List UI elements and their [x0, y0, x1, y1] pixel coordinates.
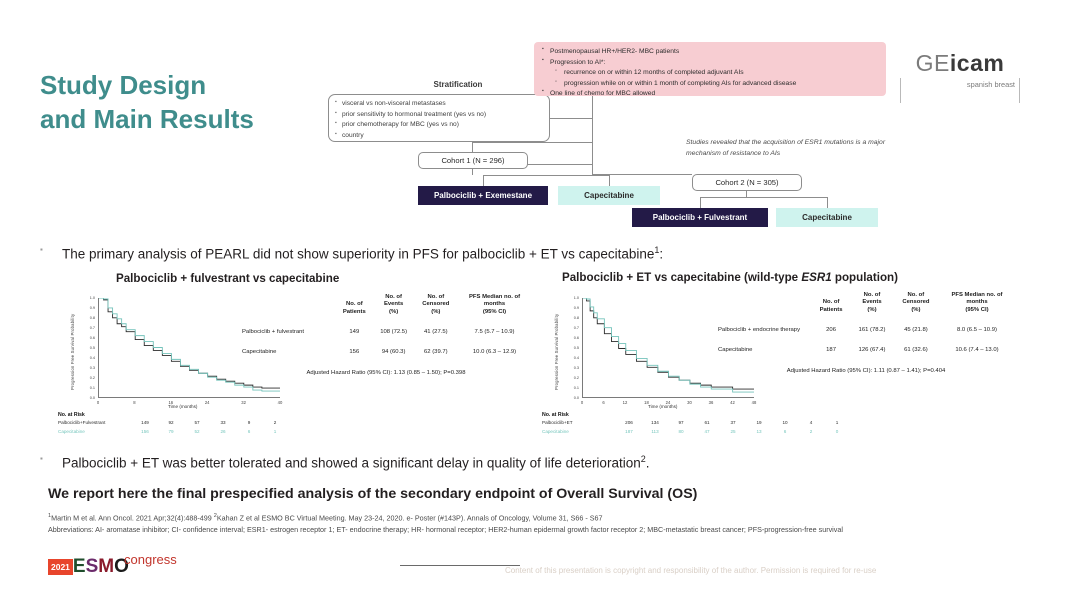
- at-risk-label: Palbociclib+Fulvestrant: [58, 420, 132, 425]
- cohort-2-node: Cohort 2 (N = 305): [692, 174, 802, 191]
- x-tick: 6: [602, 400, 604, 405]
- page-title: Study Design and Main Results: [40, 68, 320, 137]
- list-item: visceral vs non-visceral metastases: [335, 99, 543, 110]
- table-row: Palbociclib + fulvestrant149108 (72.5)41…: [240, 323, 532, 343]
- at-risk-value: 25: [720, 429, 746, 434]
- x-tick: 32: [241, 400, 246, 405]
- table-cell: 7.5 (5.7 – 10.9): [457, 323, 532, 343]
- geicam-icam: icam: [950, 50, 1004, 76]
- connector: [700, 197, 827, 198]
- y-tick: 0.3: [83, 366, 95, 370]
- table-cell: 126 (67.4): [850, 341, 894, 361]
- y-tick: 0.0: [567, 396, 579, 400]
- bullet-primary-text: The primary analysis of PEARL did not sh…: [62, 247, 654, 262]
- table-cell: Capecitabine: [716, 341, 812, 361]
- at-risk-label: Capecitabine: [58, 429, 132, 434]
- column-header: No. ofCensored(%): [894, 292, 938, 321]
- column-header: No. ofCensored(%): [415, 294, 457, 323]
- table-cell: 156: [336, 343, 373, 363]
- panel-title-right-gene: ESR1: [801, 271, 831, 284]
- at-risk-value: 0: [824, 429, 850, 434]
- x-axis-label-right: Time (months): [648, 404, 677, 409]
- arm-palbociclib-fulvestrant: Palbociclib + Fulvestrant: [632, 208, 768, 227]
- list-item: recurrence on or within 12 months of com…: [542, 68, 878, 79]
- connector: [483, 175, 609, 176]
- bullet-tolerability: Palbociclib + ET was better tolerated an…: [62, 454, 782, 471]
- esmo-letter-s: S: [86, 556, 99, 577]
- abbreviations-line: Abbreviations: AI- aromatase inhibitor; …: [48, 524, 1028, 536]
- references-block: 1Martin M et al. Ann Oncol. 2021 Apr;32(…: [48, 512, 1028, 536]
- x-tick: 8: [133, 400, 135, 405]
- table-cell: 10.0 (6.3 – 12.9): [457, 343, 532, 363]
- results-table-left: No. ofPatientsNo. ofEvents(%)No. ofCenso…: [240, 294, 532, 376]
- y-tick: 0.6: [83, 336, 95, 340]
- table-cell: 94 (60.3): [373, 343, 415, 363]
- panel-title-right-b: population): [832, 271, 898, 284]
- y-tick: 0.4: [567, 356, 579, 360]
- at-risk-value: 26: [210, 429, 236, 434]
- at-risk-value: 61: [694, 420, 720, 425]
- column-header: No. ofPatients: [336, 294, 373, 323]
- at-risk-value: 97: [668, 420, 694, 425]
- table-row: Palbociclib + endocrine therapy206161 (7…: [716, 321, 1016, 341]
- y-tick: 0.8: [83, 316, 95, 320]
- arm-capecitabine-cohort2: Capecitabine: [776, 208, 878, 227]
- connector: [592, 96, 593, 174]
- list-item: prior chemotherapy for MBC (yes vs no): [335, 120, 543, 131]
- table-body: Palbociclib + endocrine therapy206161 (7…: [716, 321, 1016, 360]
- bullet-tolerability-text: Palbociclib + ET was better tolerated an…: [62, 456, 641, 471]
- at-risk-value: 80: [668, 429, 694, 434]
- esmo-letter-m: M: [98, 556, 114, 577]
- y-tick: 0.4: [83, 356, 95, 360]
- at-risk-value: 79: [158, 429, 184, 434]
- y-tick: 0.2: [567, 376, 579, 380]
- hazard-ratio-left: Adjusted Hazard Ratio (95% CI): 1.13 (0.…: [240, 370, 532, 376]
- table: No. ofPatientsNo. ofEvents(%)No. ofCenso…: [240, 294, 532, 362]
- at-risk-value: 134: [642, 420, 668, 425]
- at-risk-value: 57: [184, 420, 210, 425]
- title-line-2: and Main Results: [40, 102, 320, 136]
- y-tick: 0.2: [83, 376, 95, 380]
- list-item: country: [335, 131, 543, 142]
- at-risk-value: 187: [616, 429, 642, 434]
- x-tick: 36: [709, 400, 714, 405]
- reference-line: 1Martin M et al. Ann Oncol. 2021 Apr;32(…: [48, 512, 1028, 524]
- table-cell: 8.0 (6.5 – 10.9): [938, 321, 1016, 341]
- connector: [700, 197, 701, 208]
- x-tick: 40: [278, 400, 283, 405]
- bullet-primary-analysis: The primary analysis of PEARL did not sh…: [62, 245, 762, 262]
- connector: [609, 175, 610, 186]
- arm-palbociclib-exemestane: Palbociclib + Exemestane: [418, 186, 548, 205]
- table-cell: 206: [812, 321, 850, 341]
- table-cell: 41 (27.5): [415, 323, 457, 343]
- title-line-1: Study Design: [40, 70, 206, 100]
- table-header-row: No. ofPatientsNo. ofEvents(%)No. ofCenso…: [240, 294, 532, 323]
- at-risk-value: 92: [158, 420, 184, 425]
- table-row: Capecitabine15694 (60.3)62 (39.7)10.0 (6…: [240, 343, 532, 363]
- footer-divider: [400, 565, 520, 566]
- at-risk-row: Palbociclib+Fulvestrant14992573392: [58, 420, 288, 425]
- table-body: Palbociclib + fulvestrant149108 (72.5)41…: [240, 323, 532, 362]
- at-risk-label: Palbociclib+ET: [542, 420, 616, 425]
- x-tick: 12: [623, 400, 628, 405]
- y-tick: 0.9: [567, 306, 579, 310]
- y-tick: 0.0: [83, 396, 95, 400]
- geicam-tagline-line1: spanish breast: [905, 80, 1015, 90]
- y-tick: 0.5: [83, 346, 95, 350]
- at-risk-value: 10: [772, 420, 798, 425]
- stratification-box: visceral vs non-visceral metastases prio…: [328, 94, 550, 142]
- at-risk-value: 113: [642, 429, 668, 434]
- stratification-list: visceral vs non-visceral metastases prio…: [335, 99, 543, 142]
- bullet-primary-tail: :: [659, 247, 663, 262]
- table-cell: 187: [812, 341, 850, 361]
- x-tick: 30: [687, 400, 692, 405]
- copyright-notice: Content of this presentation is copyrigh…: [505, 566, 876, 575]
- x-tick: 24: [205, 400, 210, 405]
- at-risk-value: 1: [824, 420, 850, 425]
- stratification-header: Stratification: [368, 80, 548, 89]
- geicam-tagline-line2: cancer group: [905, 90, 1080, 102]
- esmo-congress-logo: 2021ESMO congress: [48, 557, 129, 583]
- at-risk-header-right: No. at Risk: [542, 412, 569, 418]
- at-risk-value: 52: [184, 429, 210, 434]
- results-table-right: No. ofPatientsNo. ofEvents(%)No. ofCenso…: [716, 292, 1016, 374]
- at-risk-value: 6: [236, 429, 262, 434]
- slide-canvas: Study Design and Main Results GEicam spa…: [0, 0, 1080, 596]
- connector: [472, 142, 592, 143]
- ref-1-text: Martin M et al. Ann Oncol. 2021 Apr;32(4…: [51, 513, 214, 522]
- connector: [472, 142, 473, 152]
- column-header: [240, 294, 336, 323]
- at-risk-value: 9: [236, 420, 262, 425]
- arm-capecitabine-cohort1: Capecitabine: [558, 186, 660, 205]
- at-risk-value: 6: [772, 429, 798, 434]
- at-risk-value: 156: [132, 429, 158, 434]
- column-header: [716, 292, 812, 321]
- at-risk-row: Palbociclib+ET206134976137191041: [542, 420, 850, 425]
- list-item: prior sensitivity to hormonal treatment …: [335, 110, 543, 121]
- x-tick: 0: [581, 400, 583, 405]
- column-header: No. ofEvents(%): [850, 292, 894, 321]
- table: No. ofPatientsNo. ofEvents(%)No. ofCenso…: [716, 292, 1016, 360]
- y-tick: 1.0: [83, 296, 95, 300]
- at-risk-row: Capecitabine15679522661: [58, 429, 288, 434]
- connector: [526, 164, 592, 165]
- at-risk-value: 149: [132, 420, 158, 425]
- at-risk-value: 2: [262, 420, 288, 425]
- esr1-resistance-note: Studies revealed that the acquisition of…: [686, 138, 891, 159]
- column-header: PFS Median no. ofmonths(95% CI): [457, 294, 532, 323]
- table-cell: Palbociclib + endocrine therapy: [716, 321, 812, 341]
- at-risk-value: 206: [616, 420, 642, 425]
- table-header-row: No. ofPatientsNo. ofEvents(%)No. ofCenso…: [716, 292, 1016, 321]
- y-axis-label-right: Progression Free Survival Probability: [554, 300, 564, 404]
- y-tick: 0.7: [567, 326, 579, 330]
- column-header: No. ofPatients: [812, 292, 850, 321]
- table-row: Capecitabine187126 (67.4)61 (32.6)10.6 (…: [716, 341, 1016, 361]
- panel-title-right-a: Palbociclib + ET vs capecitabine (wild-t…: [562, 271, 801, 284]
- at-risk-value: 13: [746, 429, 772, 434]
- x-tick: 48: [752, 400, 757, 405]
- column-header: PFS Median no. ofmonths(95% CI): [938, 292, 1016, 321]
- table-cell: 161 (78.2): [850, 321, 894, 341]
- table-cell: 62 (39.7): [415, 343, 457, 363]
- column-header: No. ofEvents(%): [373, 294, 415, 323]
- table-cell: 10.6 (7.4 – 13.0): [938, 341, 1016, 361]
- esmo-letter-e: E: [73, 556, 86, 577]
- geicam-logo: GEicam spanish breast cancer group: [900, 52, 1020, 103]
- y-tick: 0.7: [83, 326, 95, 330]
- y-tick: 0.1: [83, 386, 95, 390]
- at-risk-value: 4: [798, 420, 824, 425]
- list-item: progression while on or within 1 month o…: [542, 79, 878, 90]
- y-tick: 0.5: [567, 346, 579, 350]
- bullet-tolerability-tail: .: [646, 456, 650, 471]
- at-risk-header-left: No. at Risk: [58, 412, 85, 418]
- eligibility-list: Postmenopausal HR+/HER2- MBC patients Pr…: [542, 47, 878, 100]
- panel-title-left: Palbociclib + fulvestrant vs capecitabin…: [116, 272, 339, 285]
- eligibility-criteria-box: Postmenopausal HR+/HER2- MBC patients Pr…: [534, 42, 886, 96]
- x-tick: 0: [97, 400, 99, 405]
- study-design-flow-diagram: Stratification visceral vs non-visceral …: [306, 42, 886, 232]
- y-tick: 0.3: [567, 366, 579, 370]
- x-tick: 42: [730, 400, 735, 405]
- table-cell: 149: [336, 323, 373, 343]
- y-tick: 0.8: [567, 316, 579, 320]
- geicam-tagline: spanish breast cancer group: [900, 78, 1020, 103]
- list-item: Postmenopausal HR+/HER2- MBC patients: [542, 47, 878, 58]
- y-axis-label-left: Progression Free Survival Probability: [70, 300, 80, 404]
- panel-title-right: Palbociclib + ET vs capecitabine (wild-t…: [562, 271, 898, 284]
- y-tick: 0.1: [567, 386, 579, 390]
- y-tick: 0.6: [567, 336, 579, 340]
- connector: [827, 197, 828, 208]
- table-cell: 108 (72.5): [373, 323, 415, 343]
- geicam-ge: GE: [916, 50, 950, 76]
- ref-2-text: Kahan Z et al ESMO BC Virtual Meeting. M…: [217, 513, 603, 522]
- at-risk-row: Capecitabine18711380472513620: [542, 429, 850, 434]
- connector: [550, 118, 592, 119]
- geicam-wordmark: GEicam: [900, 52, 1020, 75]
- at-risk-value: 37: [720, 420, 746, 425]
- at-risk-label: Capecitabine: [542, 429, 616, 434]
- list-item: Progression to AI*:: [542, 58, 878, 69]
- at-risk-value: 47: [694, 429, 720, 434]
- report-statement: We report here the final prespecified an…: [48, 486, 748, 502]
- esmo-wordmark: ESMO: [73, 557, 129, 576]
- at-risk-value: 19: [746, 420, 772, 425]
- y-tick: 0.9: [83, 306, 95, 310]
- at-risk-value: 33: [210, 420, 236, 425]
- y-tick: 1.0: [567, 296, 579, 300]
- esmo-year: 2021: [48, 559, 73, 575]
- table-cell: Capecitabine: [240, 343, 336, 363]
- hazard-ratio-right: Adjusted Hazard Ratio (95% CI): 1.11 (0.…: [716, 368, 1016, 374]
- connector: [483, 175, 484, 186]
- x-axis-label-left: Time (months): [168, 404, 197, 409]
- table-cell: 61 (32.6): [894, 341, 938, 361]
- at-risk-value: 1: [262, 429, 288, 434]
- cohort-1-node: Cohort 1 (N = 296): [418, 152, 528, 169]
- at-risk-value: 2: [798, 429, 824, 434]
- esmo-congress-text: congress: [124, 552, 177, 567]
- table-cell: Palbociclib + fulvestrant: [240, 323, 336, 343]
- table-cell: 45 (21.8): [894, 321, 938, 341]
